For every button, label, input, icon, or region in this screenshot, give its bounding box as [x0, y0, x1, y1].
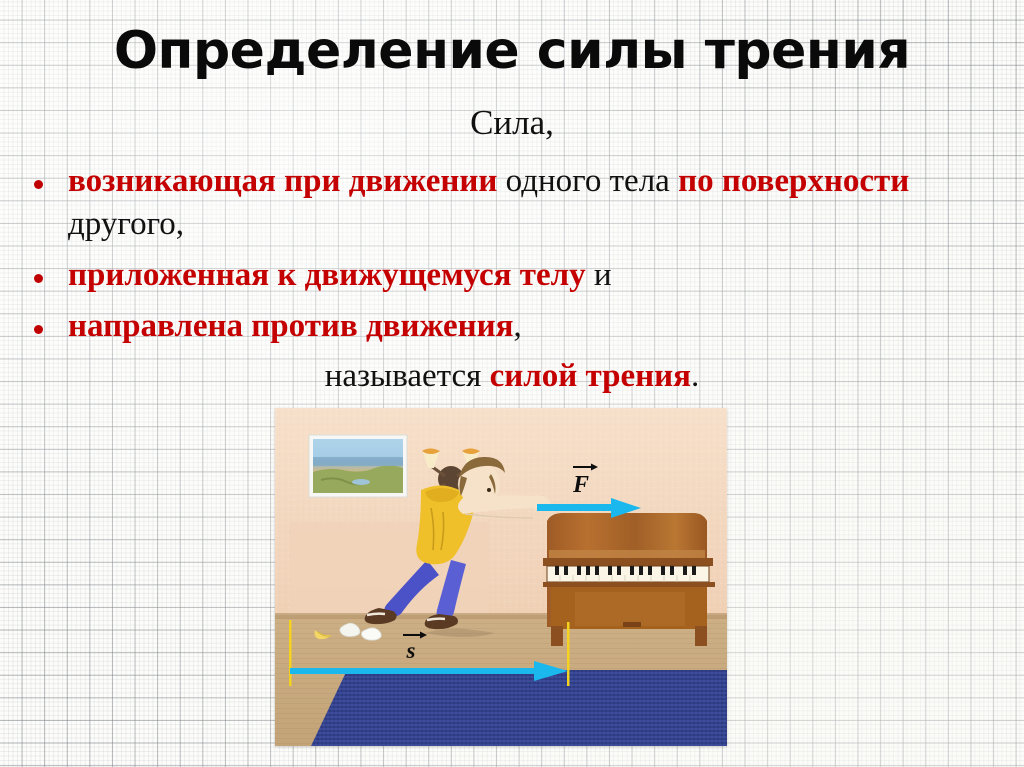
list-item: возникающая при движении одного тела по …	[34, 160, 914, 246]
framed-seascape-painting	[309, 435, 407, 497]
slide-content: Определение силы трения Сила, возникающа…	[0, 0, 1024, 767]
bullet-dot-icon	[34, 305, 68, 339]
friction-illustration: F s	[275, 408, 727, 746]
list-item-text: приложенная к движущемуся телу и	[68, 254, 914, 297]
illustration-svg: F s	[275, 408, 727, 746]
svg-text:F: F	[572, 472, 589, 498]
text-segment-emphasis: направлена против движения	[68, 308, 514, 344]
page-title: Определение силы трения	[0, 24, 1024, 79]
list-item-text: направлена против движения,	[68, 305, 914, 348]
text-segment-plain: другого,	[68, 206, 184, 242]
text-segment-plain: .	[691, 358, 699, 394]
list-item-text: возникающая при движении одного тела по …	[68, 160, 914, 246]
text-segment-plain: называется	[325, 358, 490, 394]
list-item: приложенная к движущемуся телу и	[34, 254, 914, 297]
text-segment-emphasis: возникающая при движении	[68, 163, 506, 199]
text-segment-plain: ,	[514, 308, 522, 344]
bullet-dot-icon	[34, 160, 68, 194]
bullet-dot-icon	[34, 254, 68, 288]
definition-closing-line: называется силой трения.	[0, 358, 1024, 395]
svg-text:s: s	[406, 638, 416, 663]
text-segment-emphasis: силой трения	[490, 358, 691, 394]
text-segment-plain: одного тела	[506, 163, 678, 199]
text-segment-emphasis: по поверхности	[678, 163, 909, 199]
definition-bullet-list: возникающая при движении одного тела по …	[34, 160, 914, 356]
text-segment-plain: и	[594, 257, 612, 293]
text-segment-emphasis: приложенная к движущемуся телу	[68, 257, 594, 293]
list-item: направлена против движения,	[34, 305, 914, 348]
definition-lead-in: Сила,	[0, 104, 1024, 143]
blue-carpet	[311, 670, 727, 746]
